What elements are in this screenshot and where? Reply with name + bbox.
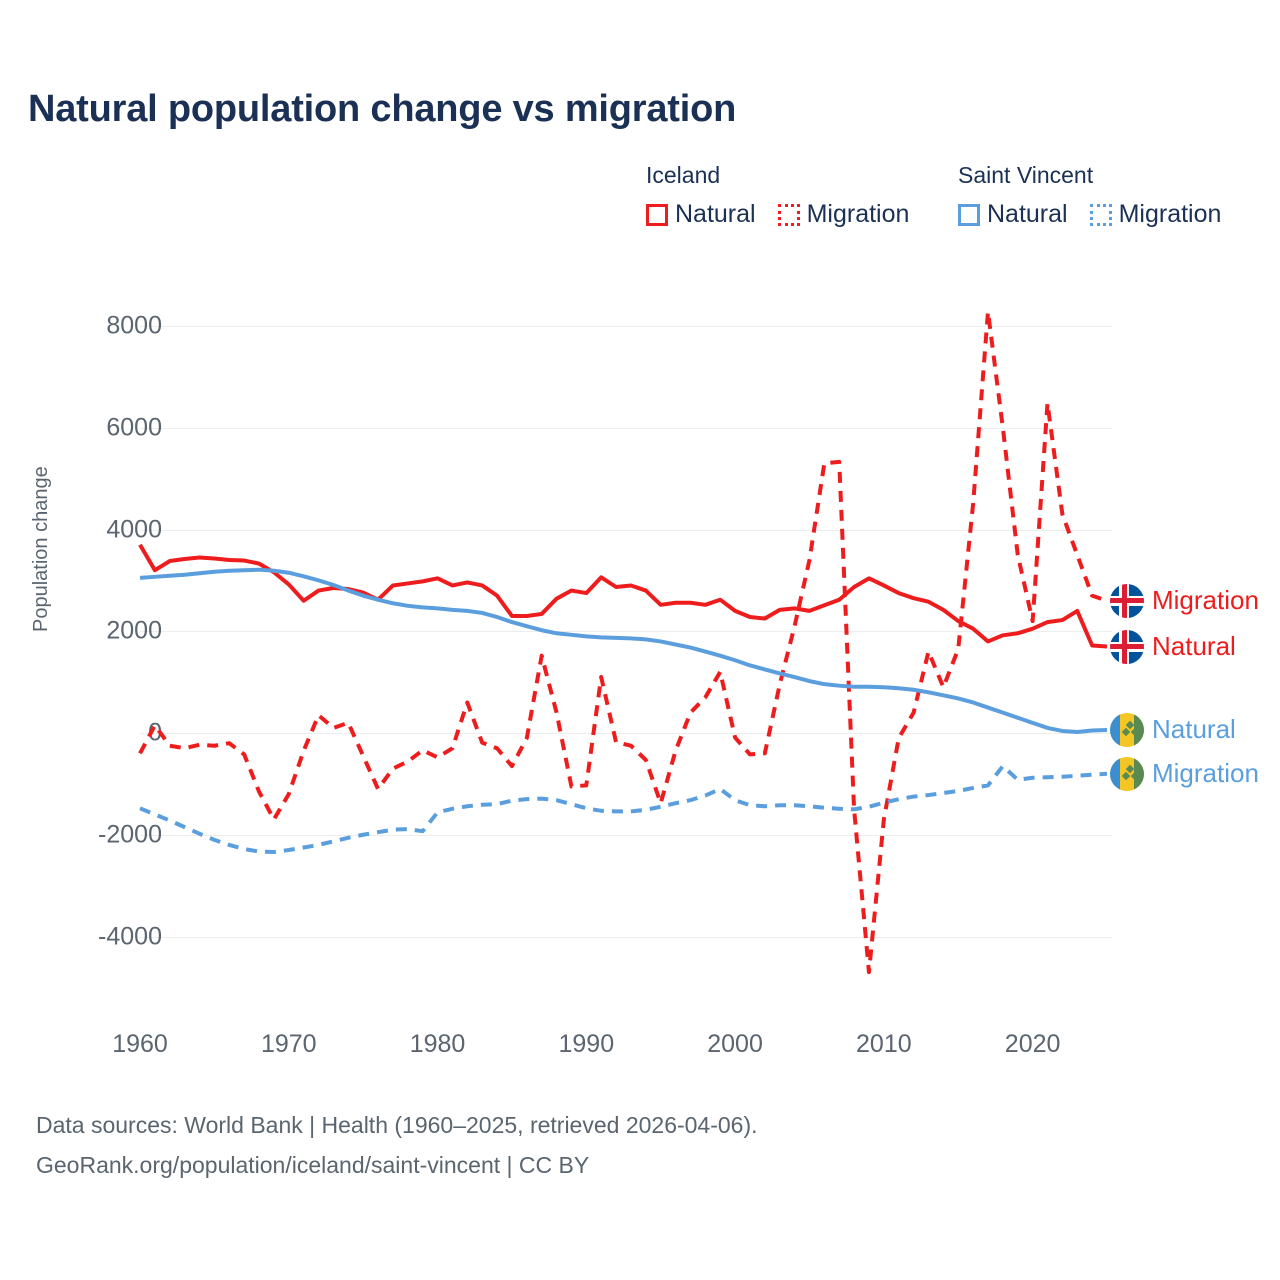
iceland-flag-icon xyxy=(1110,630,1144,664)
series-line-iceland-migration xyxy=(140,312,1107,972)
legend-swatch-solid-icon xyxy=(958,204,980,226)
x-axis-tick-label: 2020 xyxy=(1005,1030,1061,1059)
x-axis-tick-label: 1980 xyxy=(410,1030,466,1059)
grid-line xyxy=(140,733,1112,734)
series-end-label[interactable]: Natural xyxy=(1110,630,1236,664)
legend-item-label: Natural xyxy=(675,200,756,229)
legend-swatch-solid-icon xyxy=(646,204,668,226)
footer: Data sources: World Bank | Health (1960–… xyxy=(36,1105,758,1185)
legend-country-label: Iceland xyxy=(646,160,909,190)
legend-group-iceland: Iceland Natural Migration xyxy=(646,160,909,229)
x-axis-tick-label: 1970 xyxy=(261,1030,317,1059)
legend-item-iceland-natural[interactable]: Natural xyxy=(646,200,756,229)
grid-line xyxy=(140,326,1112,327)
series-line-saint-vincent-migration xyxy=(140,766,1107,852)
saint-vincent-flag-icon xyxy=(1110,757,1144,791)
page-title: Natural population change vs migration xyxy=(28,88,736,131)
footer-line-sources: Data sources: World Bank | Health (1960–… xyxy=(36,1105,758,1145)
grid-line xyxy=(140,835,1112,836)
legend-item-saint-vincent-natural[interactable]: Natural xyxy=(958,200,1068,229)
x-axis-tick-label: 2000 xyxy=(707,1030,763,1059)
grid-line xyxy=(140,530,1112,531)
footer-line-attribution[interactable]: GeoRank.org/population/iceland/saint-vin… xyxy=(36,1145,758,1185)
y-axis-tick-label: -4000 xyxy=(98,922,162,951)
legend-item-iceland-migration[interactable]: Migration xyxy=(778,200,910,229)
series-end-label[interactable]: Migration xyxy=(1110,757,1259,791)
y-axis-label: Population change xyxy=(30,466,53,632)
series-end-label-text: Migration xyxy=(1152,585,1259,616)
legend-swatch-dotted-icon xyxy=(1090,204,1112,226)
y-axis-tick-label: -2000 xyxy=(98,820,162,849)
y-axis-tick-label: 4000 xyxy=(106,515,162,544)
legend-item-saint-vincent-migration[interactable]: Migration xyxy=(1090,200,1222,229)
chart-legend: Iceland Natural Migration Saint Vincent … xyxy=(646,160,1266,238)
y-axis-tick-label: 0 xyxy=(148,719,162,748)
chart-root: Natural population change vs migration I… xyxy=(0,0,1280,1280)
series-end-label[interactable]: Natural xyxy=(1110,713,1236,747)
series-end-label-text: Natural xyxy=(1152,714,1236,745)
y-axis-tick-label: 6000 xyxy=(106,413,162,442)
legend-item-label: Natural xyxy=(987,200,1068,229)
legend-item-label: Migration xyxy=(1119,200,1222,229)
series-end-label-text: Migration xyxy=(1152,758,1259,789)
x-axis-tick-label: 2010 xyxy=(856,1030,912,1059)
grid-line xyxy=(140,937,1112,938)
grid-line xyxy=(140,631,1112,632)
series-line-saint-vincent-natural xyxy=(140,570,1107,732)
legend-swatch-dotted-icon xyxy=(778,204,800,226)
series-end-label-text: Natural xyxy=(1152,631,1236,662)
y-axis-tick-label: 8000 xyxy=(106,312,162,341)
saint-vincent-flag-icon xyxy=(1110,713,1144,747)
legend-group-saint-vincent: Saint Vincent Natural Migration xyxy=(958,160,1221,229)
legend-item-label: Migration xyxy=(807,200,910,229)
series-end-label[interactable]: Migration xyxy=(1110,584,1259,618)
x-axis-tick-label: 1990 xyxy=(558,1030,614,1059)
x-axis-tick-label: 1960 xyxy=(112,1030,168,1059)
legend-country-label: Saint Vincent xyxy=(958,160,1221,190)
iceland-flag-icon xyxy=(1110,584,1144,618)
y-axis-tick-label: 2000 xyxy=(106,617,162,646)
grid-line xyxy=(140,428,1112,429)
